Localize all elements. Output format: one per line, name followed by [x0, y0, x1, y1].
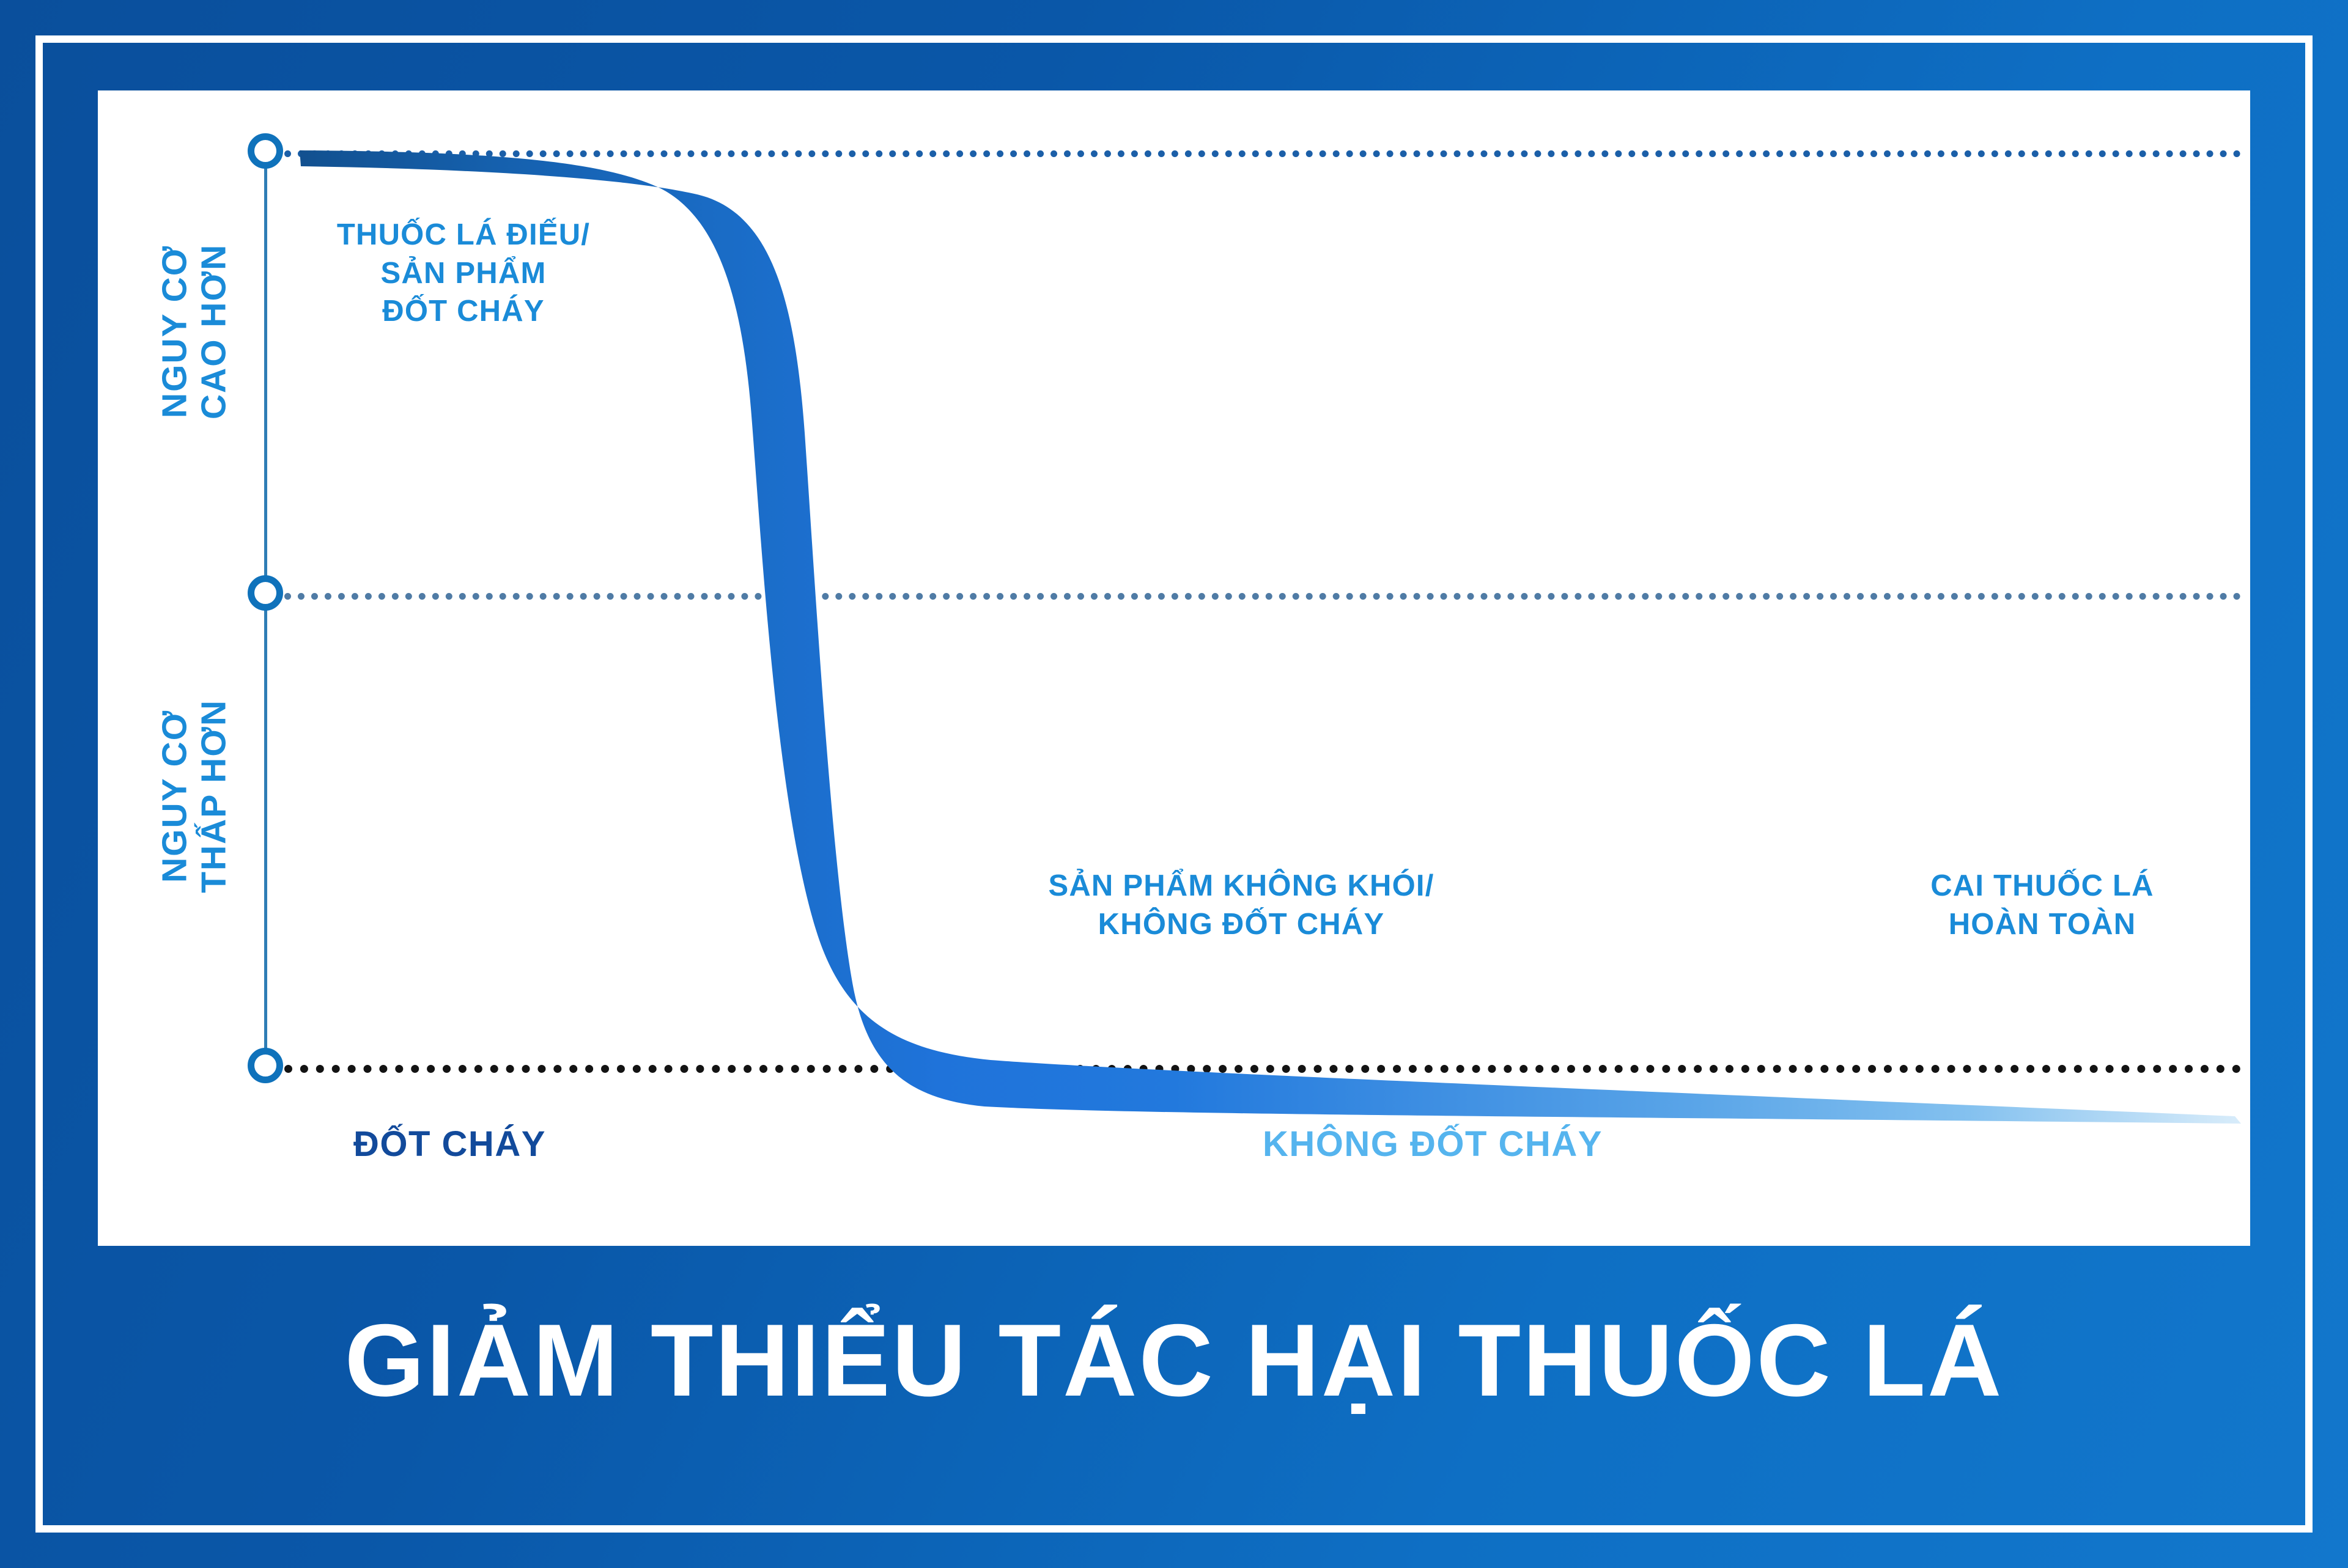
annotation-smokefree-line2: KHÔNG ĐỐT CHÁY [874, 905, 1608, 944]
annotation-smokefree-line1: SẢN PHẨM KHÔNG KHÓI/ [874, 867, 1608, 905]
x-axis-label-combusted: ĐỐT CHÁY [353, 1124, 546, 1165]
axis-marker-high [248, 133, 283, 169]
y-axis-label-higher-risk: NGUY CƠ CAO HƠN [155, 203, 234, 460]
y-axis-label-lower-risk-line2: THẤP HƠN [194, 668, 234, 924]
plot-area: NGUY CƠ CAO HƠN NGUY CƠ THẤP HƠN THUỐC L… [98, 90, 2250, 1246]
x-axis-label-non-combusted: KHÔNG ĐỐT CHÁY [1263, 1124, 1603, 1165]
annotation-quit-smoking: CAI THUỐC LÁ HOÀN TOÀN [1792, 867, 2293, 943]
y-axis-label-lower-risk: NGUY CƠ THẤP HƠN [155, 668, 234, 924]
annotation-smokefree-products: SẢN PHẨM KHÔNG KHÓI/ KHÔNG ĐỐT CHÁY [874, 867, 1608, 943]
y-axis-label-higher-risk-line1: NGUY CƠ [155, 203, 194, 460]
annotation-quit-line2: HOÀN TOÀN [1792, 905, 2293, 944]
chart-panel: NGUY CƠ CAO HƠN NGUY CƠ THẤP HƠN THUỐC L… [98, 90, 2250, 1246]
axis-marker-mid [248, 575, 283, 611]
y-axis-label-lower-risk-line1: NGUY CƠ [155, 668, 194, 924]
annotation-combustible-line2: SẢN PHẨM [292, 254, 635, 293]
page-title: GIẢM THIỂU TÁC HẠI THUỐC LÁ [345, 1309, 2004, 1412]
annotation-combustible-line1: THUỐC LÁ ĐIẾU/ [292, 216, 635, 254]
annotation-quit-line1: CAI THUỐC LÁ [1792, 867, 2293, 905]
title-bar: GIẢM THIỂU TÁC HẠI THUỐC LÁ [98, 1259, 2250, 1461]
annotation-combustible-products: THUỐC LÁ ĐIẾU/ SẢN PHẨM ĐỐT CHÁY [292, 216, 635, 331]
axis-marker-low [248, 1048, 283, 1083]
poster-frame: NGUY CƠ CAO HƠN NGUY CƠ THẤP HƠN THUỐC L… [0, 0, 2348, 1568]
y-axis-label-higher-risk-line2: CAO HƠN [194, 203, 234, 460]
annotation-combustible-line3: ĐỐT CHÁY [292, 292, 635, 331]
